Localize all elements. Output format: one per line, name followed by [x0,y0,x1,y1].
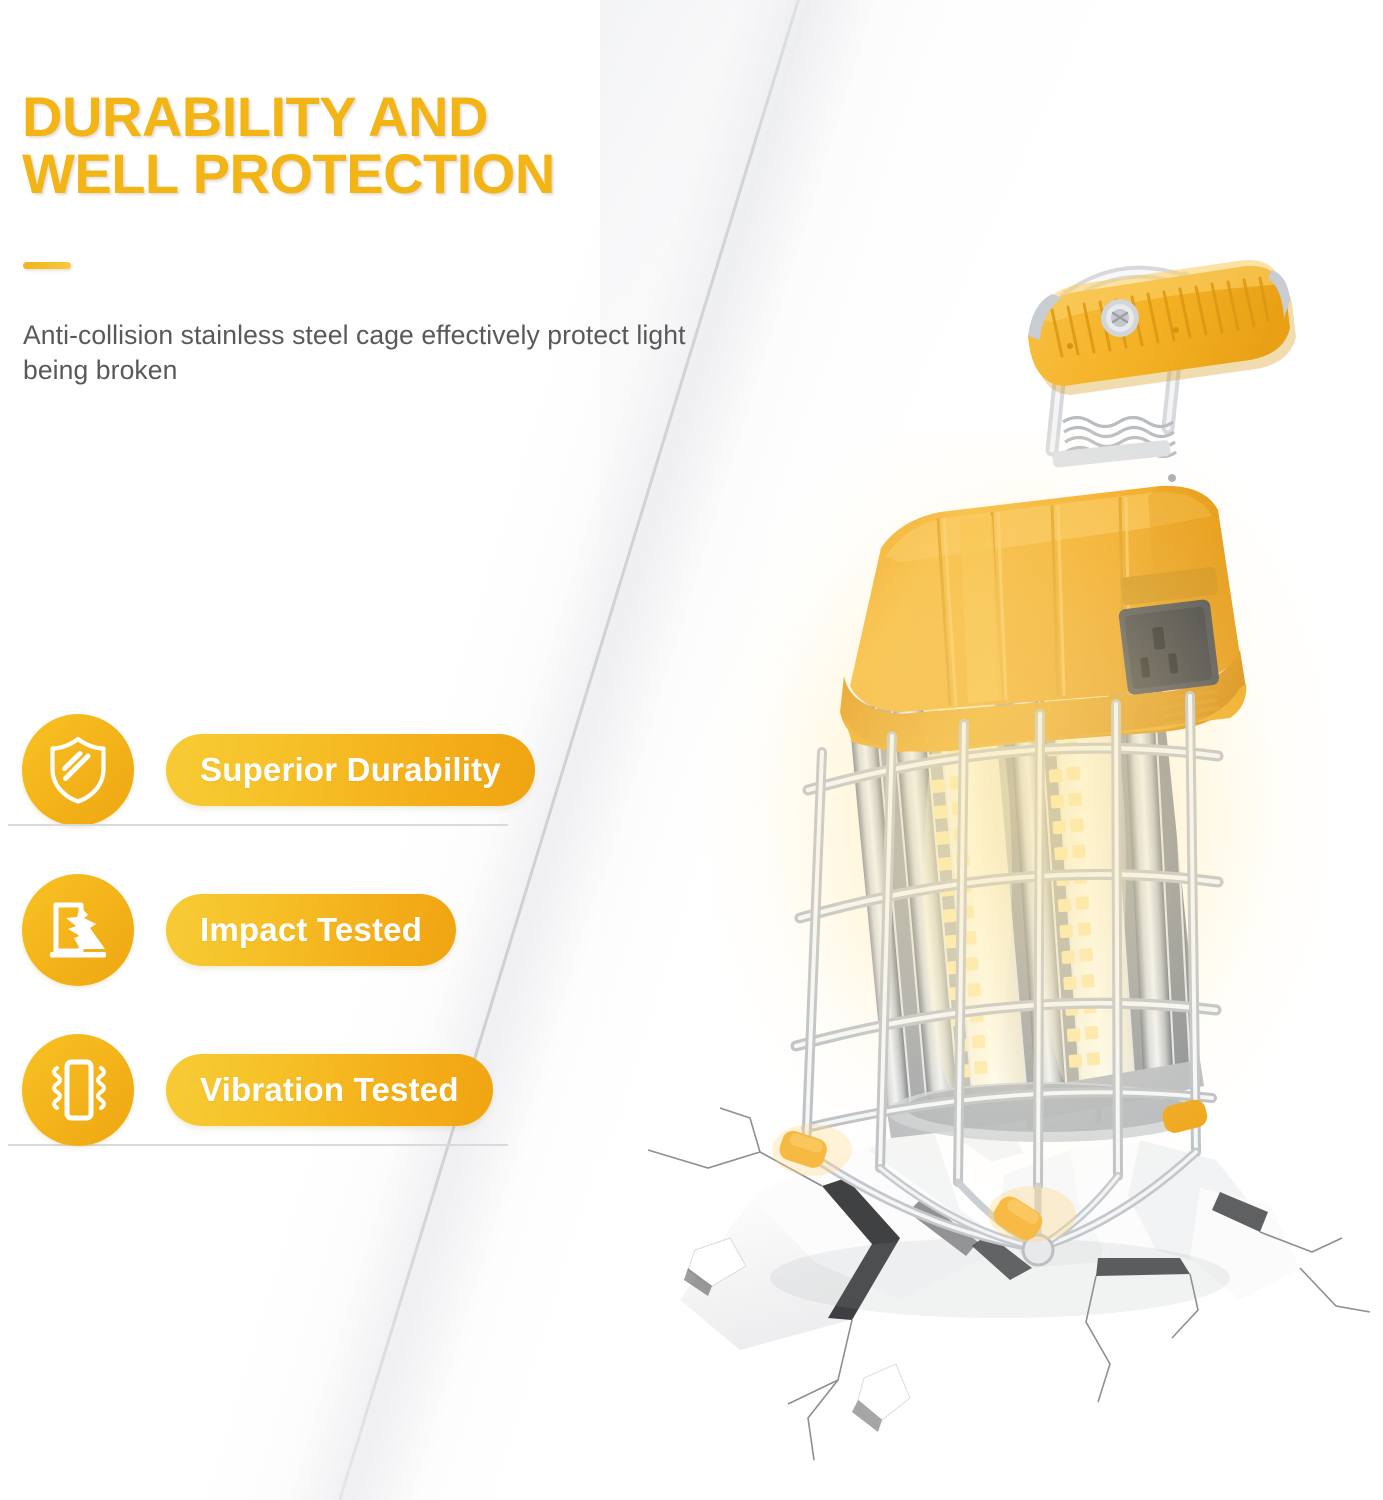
shield-icon [22,714,134,826]
impact-break-icon [22,874,134,986]
list-item: Superior Durability [0,690,620,850]
feature-badge-label: Vibration Tested [200,1071,459,1109]
product-feature-banner: DURABILITY AND WELL PROTECTION Anti-coll… [0,0,1383,1500]
t-bar-handle [1028,260,1296,395]
feature-badge-durability[interactable]: Superior Durability [166,734,535,806]
led-work-light-illustration [600,0,1383,1500]
feature-badge-impact[interactable]: Impact Tested [166,894,456,966]
left-content-column: DURABILITY AND WELL PROTECTION Anti-coll… [0,0,620,1500]
list-item: Vibration Tested [0,1010,620,1170]
feature-list: Superior Durability Imp [0,690,620,1170]
title-accent-rule [23,262,71,269]
product-photo [600,0,1383,1500]
list-divider [8,824,508,826]
page-title: DURABILITY AND WELL PROTECTION [22,88,582,202]
feature-badge-vibration[interactable]: Vibration Tested [166,1054,493,1126]
feature-badge-label: Impact Tested [200,911,422,949]
cracked-floor [648,1108,1370,1460]
vibration-icon [22,1034,134,1146]
feature-badge-label: Superior Durability [200,751,501,789]
list-item: Impact Tested [0,850,620,1010]
power-outlet [1118,566,1220,695]
